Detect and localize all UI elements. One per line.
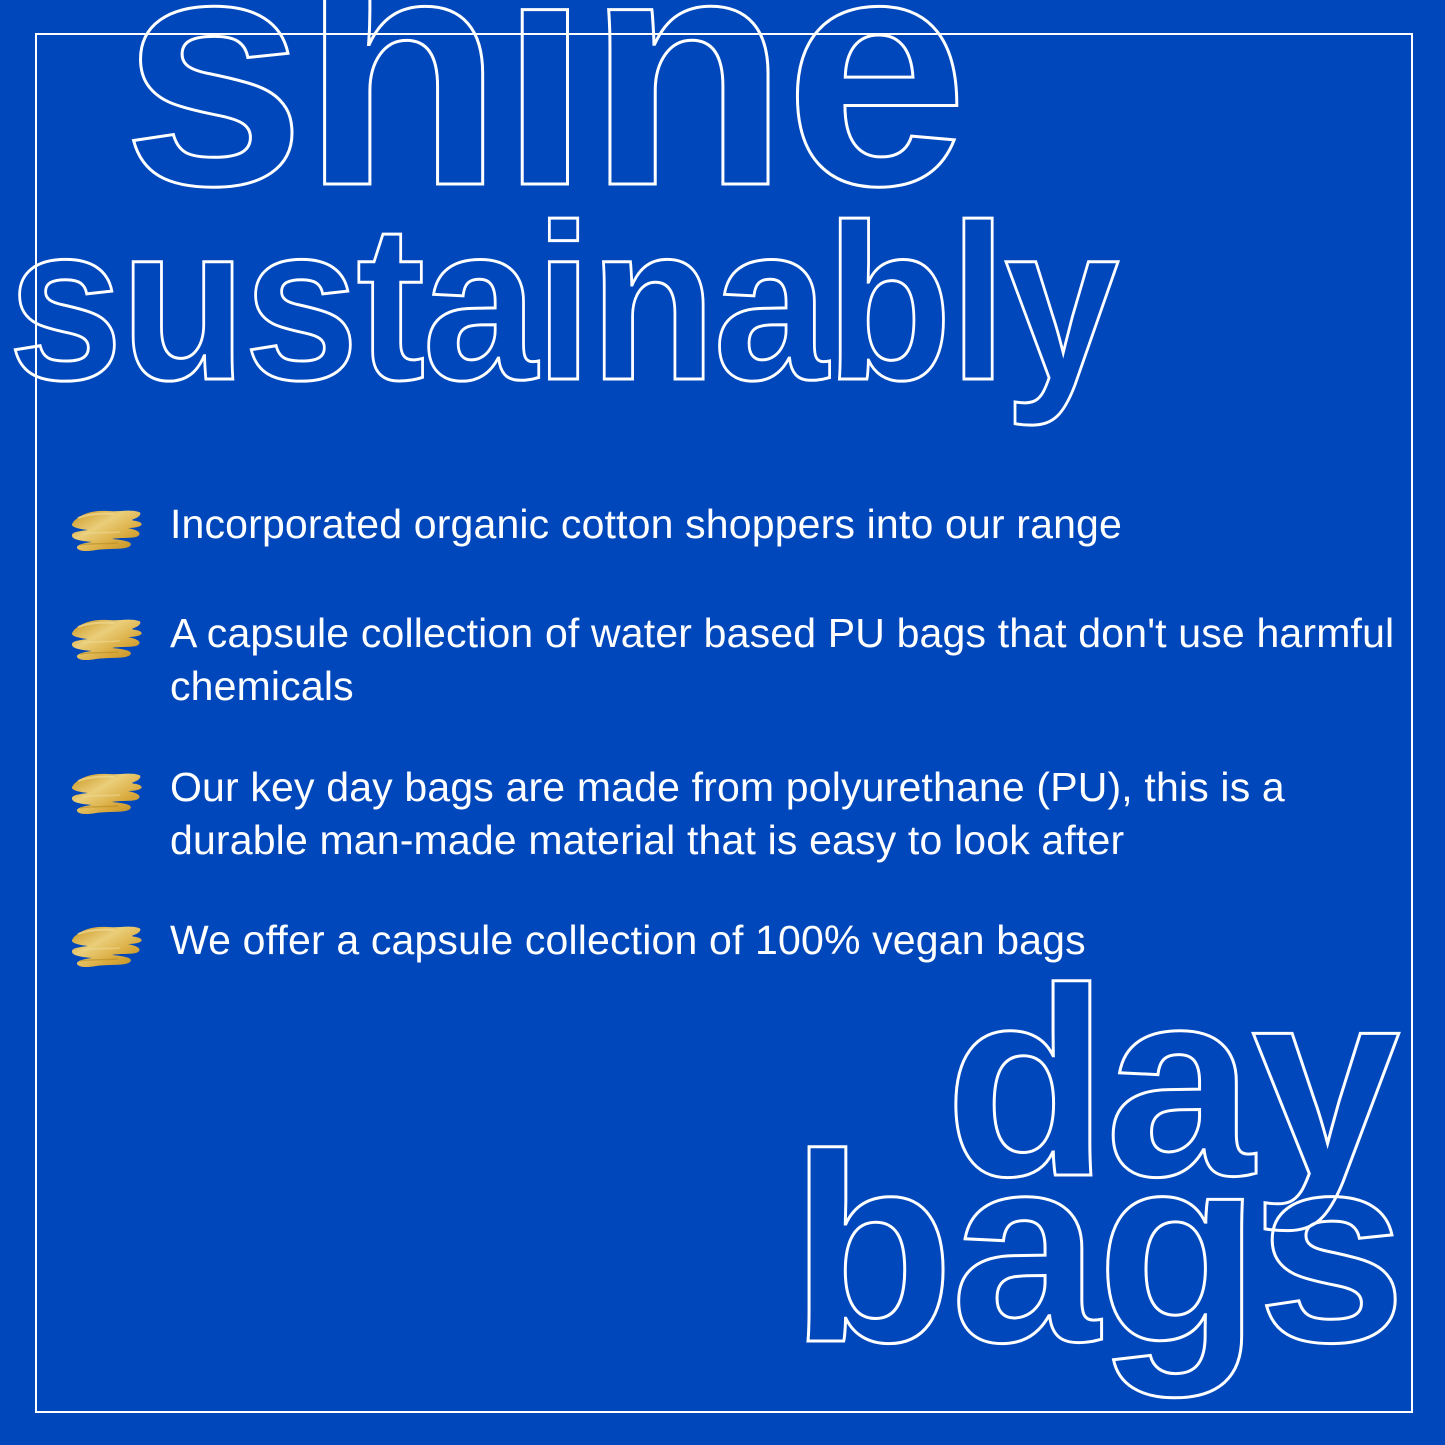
list-item: A capsule collection of water based PU b… — [68, 607, 1398, 714]
list-item-label: Our key day bags are made from polyureth… — [170, 761, 1395, 868]
feature-list: Incorporated organic cotton shoppers int… — [68, 498, 1398, 976]
gold-brushstroke-icon — [68, 767, 146, 823]
footer-headline-line-bags: bags — [790, 1141, 1403, 1355]
headline-line-shine: shine — [122, 0, 964, 202]
list-item: We offer a capsule collection of 100% ve… — [68, 914, 1398, 976]
footer-headline-block: day bags — [0, 965, 1445, 1445]
gold-brushstroke-icon — [68, 504, 146, 560]
gold-brushstroke-icon — [68, 920, 146, 976]
list-item-label: A capsule collection of water based PU b… — [170, 607, 1395, 714]
footer-headline-line-day: day — [945, 975, 1397, 1189]
headline-line-sustainably: sustainably — [8, 215, 1117, 393]
list-item: Incorporated organic cotton shoppers int… — [68, 498, 1398, 560]
gold-brushstroke-icon — [68, 613, 146, 669]
list-item-label: We offer a capsule collection of 100% ve… — [170, 914, 1086, 967]
list-item: Our key day bags are made from polyureth… — [68, 761, 1398, 868]
list-item-label: Incorporated organic cotton shoppers int… — [170, 498, 1122, 551]
